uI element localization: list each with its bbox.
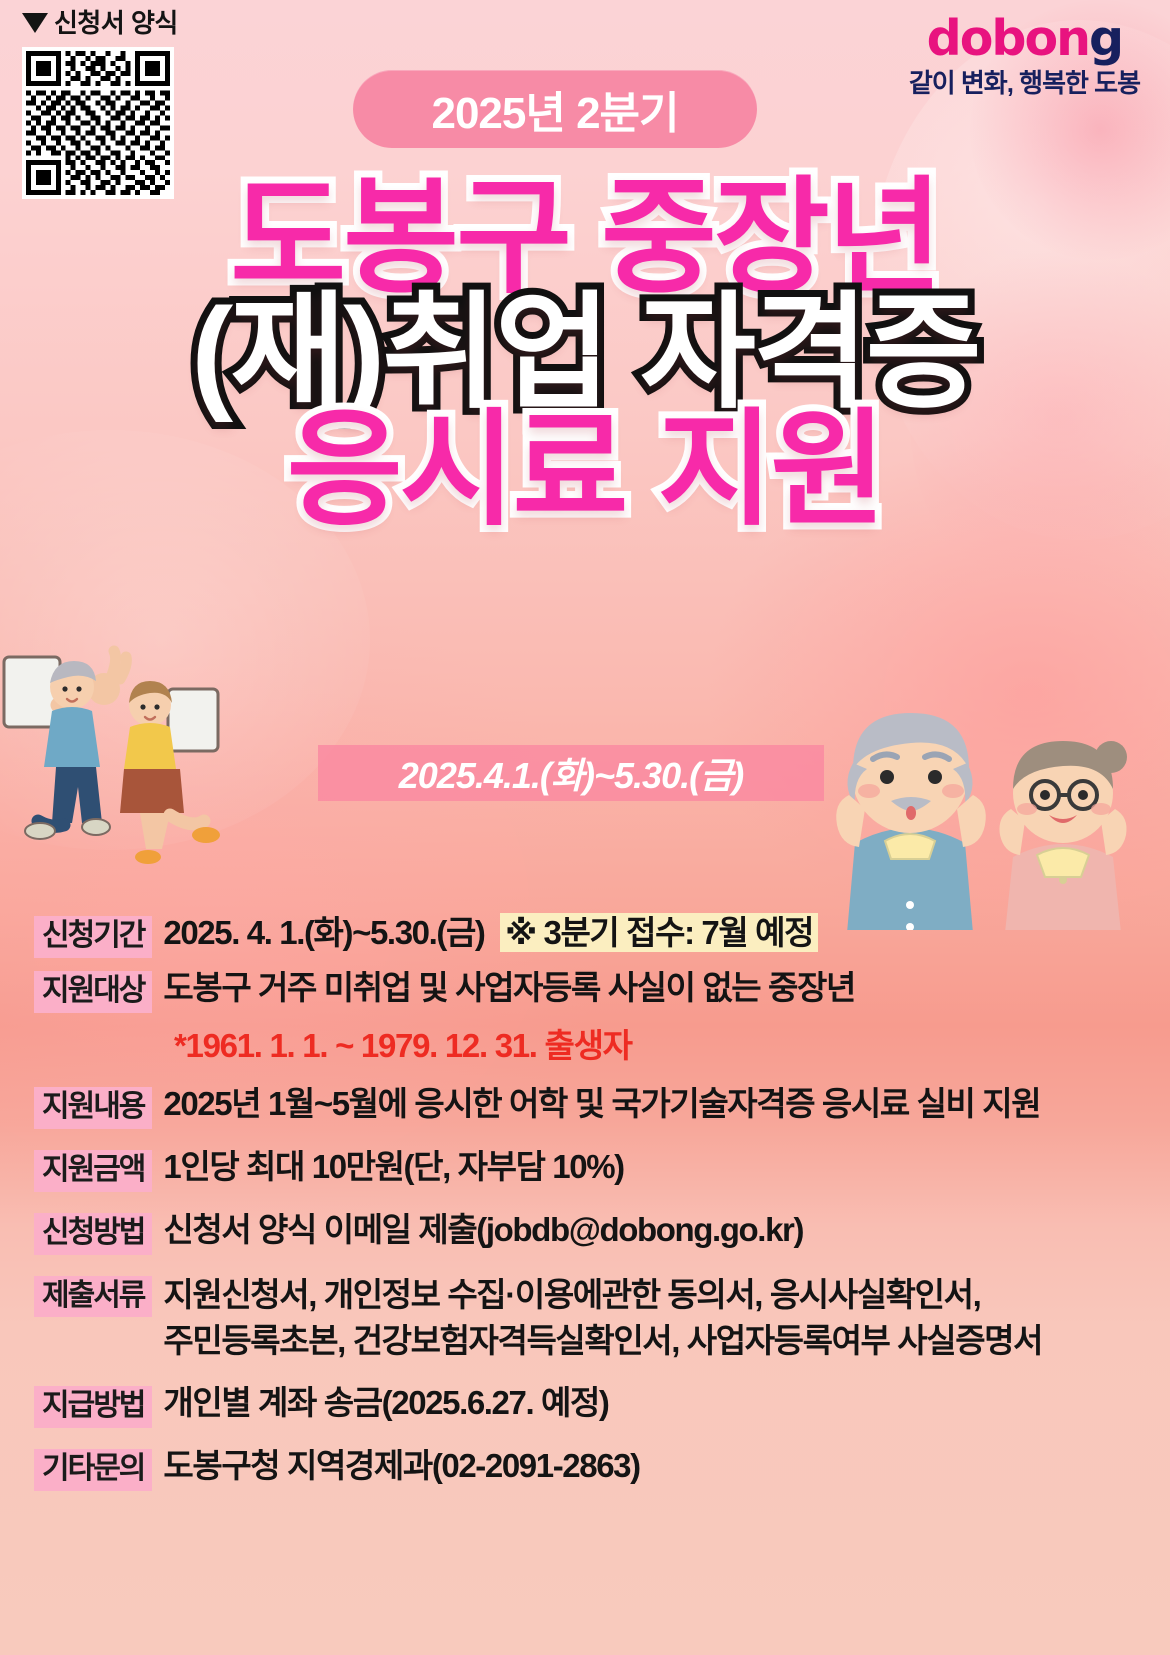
info-value-phone[interactable]: 도봉구청 지역경제과(02-2091-2863) — [163, 1445, 639, 1487]
info-value: 지원신청서, 개인정보 수집·이용에관한 동의서, 응시사실확인서, 주민등록초… — [163, 1272, 1042, 1366]
page-title: 도봉구 중장년 (재)취업 자격증 응시료 지원 — [0, 178, 1170, 531]
poster-root: 신청서 양식 — [0, 0, 1170, 1655]
info-note-birth-range: *1961. 1. 1. ~ 1979. 12. 31. 출생자 — [174, 1026, 1144, 1066]
info-row-required-documents: 제출서류 지원신청서, 개인정보 수집·이용에관한 동의서, 응시사실확인서, … — [34, 1272, 1144, 1366]
dobong-logo: dobong 같이 변화, 행복한 도봉 — [909, 14, 1140, 96]
down-triangle-icon — [22, 13, 48, 33]
qr-label-text: 신청서 양식 — [54, 10, 178, 36]
info-tag: 지원대상 — [34, 971, 152, 1013]
info-value-email[interactable]: 신청서 양식 이메일 제출(jobdb@dobong.go.kr) — [163, 1209, 803, 1251]
logo-word-tail: g — [1089, 10, 1122, 67]
logo-word-main: dobon — [927, 10, 1089, 67]
info-row-payment-method: 지급방법 개인별 계좌 송금(2025.6.27. 예정) — [34, 1382, 1144, 1428]
two-seniors-hands-on-cheeks-illustration — [815, 675, 1170, 930]
info-highlight-note: ※ 3분기 접수: 7월 예정 — [500, 913, 818, 952]
info-row-support-content: 지원내용 2025년 1월~5월에 응시한 어학 및 국가기술자격증 응시료 실… — [34, 1083, 1144, 1129]
info-value: 도봉구 거주 미취업 및 사업자등록 사실이 없는 중장년 — [163, 967, 855, 1009]
info-row-application-period: 신청기간 2025. 4. 1.(화)~5.30.(금) ※ 3분기 접수: 7… — [34, 912, 1144, 958]
headline-line-2: (재)취업 자격증 — [0, 293, 1170, 414]
quarter-badge: 2025년 2분기 — [353, 70, 757, 148]
info-tag: 신청방법 — [34, 1213, 152, 1255]
quarter-badge-text: 2025년 2분기 — [431, 77, 678, 141]
date-band: 2025.4.1.(화)~5.30.(금) — [318, 745, 824, 801]
info-value: 1인당 최대 10만원(단, 자부담 10%) — [163, 1146, 623, 1188]
info-tag: 기타문의 — [34, 1449, 152, 1491]
date-band-text: 2025.4.1.(화)~5.30.(금) — [399, 747, 743, 799]
info-value: 2025년 1월~5월에 응시한 어학 및 국가기술자격증 응시료 실비 지원 — [163, 1083, 1040, 1125]
info-value-line-2: 주민등록초본, 건강보험자격득실확인서, 사업자등록여부 사실증명서 — [163, 1318, 1042, 1365]
qr-section[interactable]: 신청서 양식 — [22, 10, 212, 199]
info-value: 2025. 4. 1.(화)~5.30.(금) ※ 3분기 접수: 7월 예정 — [163, 912, 818, 954]
headline-line-3: 응시료 지원 — [0, 410, 1170, 531]
info-row-support-amount: 지원금액 1인당 최대 10만원(단, 자부담 10%) — [34, 1146, 1144, 1192]
info-tag: 지원내용 — [34, 1087, 152, 1129]
two-seniors-waving-with-documents-illustration — [0, 645, 290, 935]
logo-tagline: 같이 변화, 행복한 도봉 — [909, 70, 1140, 96]
info-row-eligibility: 지원대상 도봉구 거주 미취업 및 사업자등록 사실이 없는 중장년 — [34, 967, 1144, 1013]
info-tag: 신청기간 — [34, 916, 152, 958]
info-tag: 제출서류 — [34, 1276, 152, 1318]
info-value-line-1: 지원신청서, 개인정보 수집·이용에관한 동의서, 응시사실확인서, — [163, 1272, 1042, 1319]
info-value: 개인별 계좌 송금(2025.6.27. 예정) — [163, 1382, 608, 1424]
info-tag: 지급방법 — [34, 1386, 152, 1428]
info-list: 신청기간 2025. 4. 1.(화)~5.30.(금) ※ 3분기 접수: 7… — [34, 912, 1144, 1504]
info-row-contact[interactable]: 기타문의 도봉구청 지역경제과(02-2091-2863) — [34, 1445, 1144, 1491]
logo-wordmark: dobong — [909, 14, 1140, 63]
qr-label: 신청서 양식 — [22, 10, 212, 36]
info-value-text: 2025. 4. 1.(화)~5.30.(금) — [163, 914, 484, 951]
info-row-how-to-apply[interactable]: 신청방법 신청서 양식 이메일 제출(jobdb@dobong.go.kr) — [34, 1209, 1144, 1255]
info-tag: 지원금액 — [34, 1150, 152, 1192]
qr-code-icon[interactable] — [22, 47, 174, 199]
headline-line-1: 도봉구 중장년 — [0, 178, 1170, 299]
